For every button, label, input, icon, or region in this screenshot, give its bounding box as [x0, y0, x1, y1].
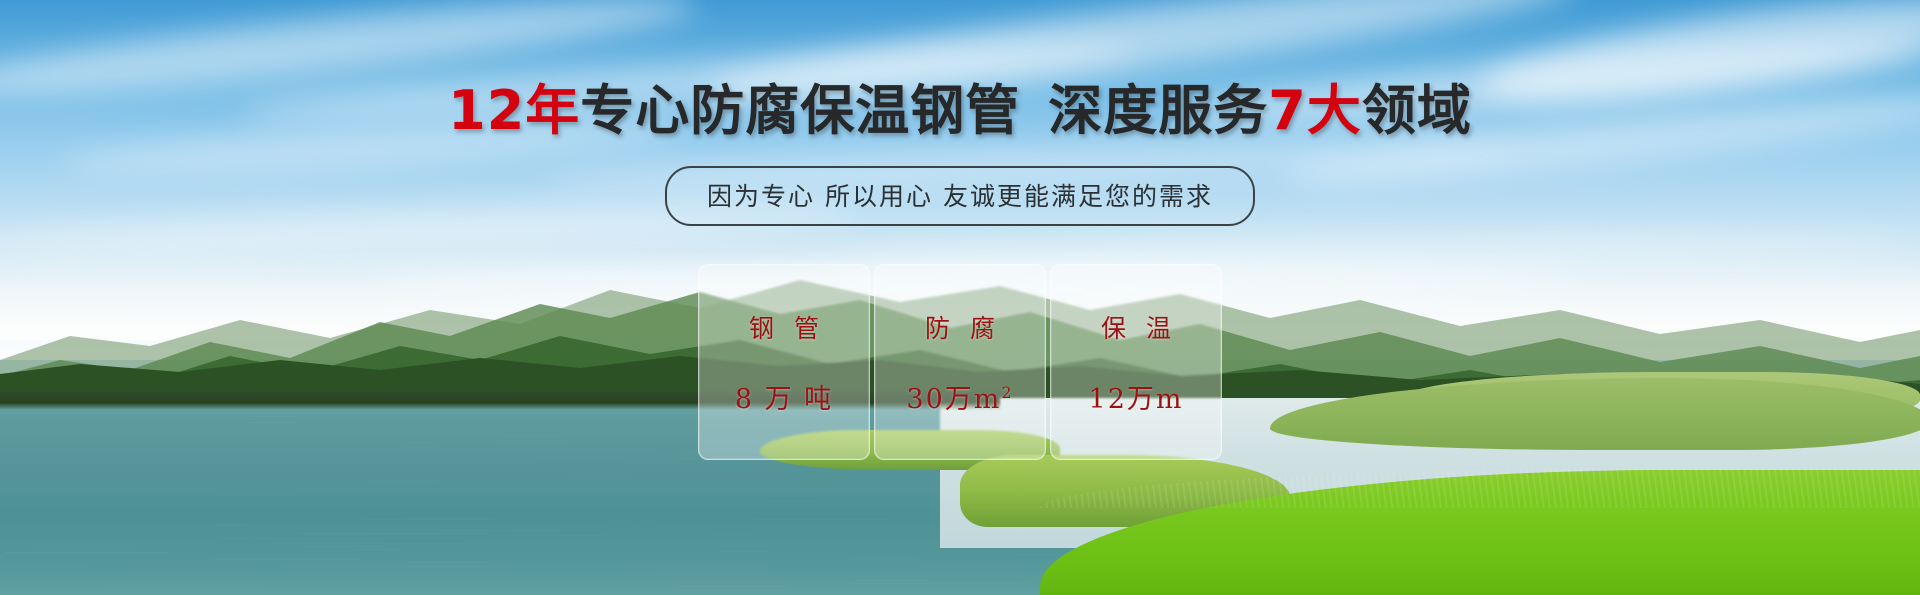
stat-card-value-exponent: 2: [1001, 383, 1013, 402]
water-ripple: [669, 582, 814, 583]
promo-banner: 12年专心防腐保温钢管深度服务7大领域 因为专心 所以用心 友诚更能满足您的需求…: [0, 0, 1920, 595]
water-ripple: [677, 586, 788, 587]
headline-service: 深度服务: [1048, 79, 1268, 142]
stat-card-value-main: 12万m: [1089, 384, 1184, 415]
water-ripple: [402, 518, 491, 519]
water-ripple: [271, 543, 464, 544]
stat-card-title: 防 腐: [919, 309, 1001, 345]
subtitle-pill: 因为专心 所以用心 友诚更能满足您的需求: [665, 166, 1255, 226]
water-ripple: [438, 530, 560, 531]
stat-card-value: 30万m2: [906, 377, 1013, 416]
water-ripple: [3, 552, 168, 553]
water-ripple: [214, 493, 313, 494]
headline-fields-num: 7大: [1268, 79, 1362, 142]
water-ripple: [845, 583, 1023, 584]
water-ripple: [852, 558, 916, 559]
water-ripple: [32, 545, 142, 546]
water-ripple: [213, 559, 360, 560]
water-ripple: [857, 580, 927, 581]
stat-card-group: 钢 管 8 万 吨 防 腐 30万m2 保 温 12万m: [0, 264, 1920, 460]
water-ripple: [86, 561, 276, 562]
water-ripple: [298, 533, 442, 534]
water-ripple: [838, 529, 917, 530]
stat-card-value-main: 8 万 吨: [735, 384, 833, 415]
stat-card-value: 8 万 吨: [735, 377, 833, 416]
water-ripple: [707, 535, 759, 536]
stat-card-value: 12万m: [1089, 377, 1184, 416]
water-ripple: [357, 549, 400, 550]
headline-fields: 领域: [1362, 79, 1472, 142]
stat-card-steel-pipe[interactable]: 钢 管 8 万 吨: [698, 264, 870, 460]
water-ripple: [604, 523, 662, 524]
water-ripple: [295, 566, 492, 567]
water-ripple: [214, 525, 247, 526]
water-ripple: [718, 551, 772, 552]
water-ripple: [81, 470, 164, 471]
headline-main: 专心防腐保温钢管: [580, 79, 1020, 142]
stat-card-title: 钢 管: [743, 309, 825, 345]
headline: 12年专心防腐保温钢管深度服务7大领域: [0, 84, 1920, 138]
water-ripple: [649, 569, 774, 570]
water-ripple: [407, 562, 485, 563]
water-ripple: [218, 538, 382, 539]
stat-card-value-main: 30万m: [906, 384, 1001, 415]
water-ripple: [763, 500, 822, 501]
headline-years: 12年: [448, 79, 580, 142]
subtitle-wrapper: 因为专心 所以用心 友诚更能满足您的需求: [0, 166, 1920, 226]
stat-card-title: 保 温: [1095, 309, 1177, 345]
water-ripple: [774, 561, 914, 562]
water-ripple: [218, 524, 349, 525]
water-ripple: [513, 535, 605, 536]
water-ripple: [825, 507, 861, 508]
water-ripple: [365, 481, 438, 482]
water-ripple: [100, 586, 262, 587]
water-ripple: [300, 546, 384, 547]
stat-card-insulation[interactable]: 保 温 12万m: [1050, 264, 1222, 460]
water-ripple: [754, 519, 892, 520]
stat-card-anticorrosion[interactable]: 防 腐 30万m2: [874, 264, 1046, 460]
water-ripple: [363, 519, 495, 520]
water-ripple: [564, 478, 637, 479]
